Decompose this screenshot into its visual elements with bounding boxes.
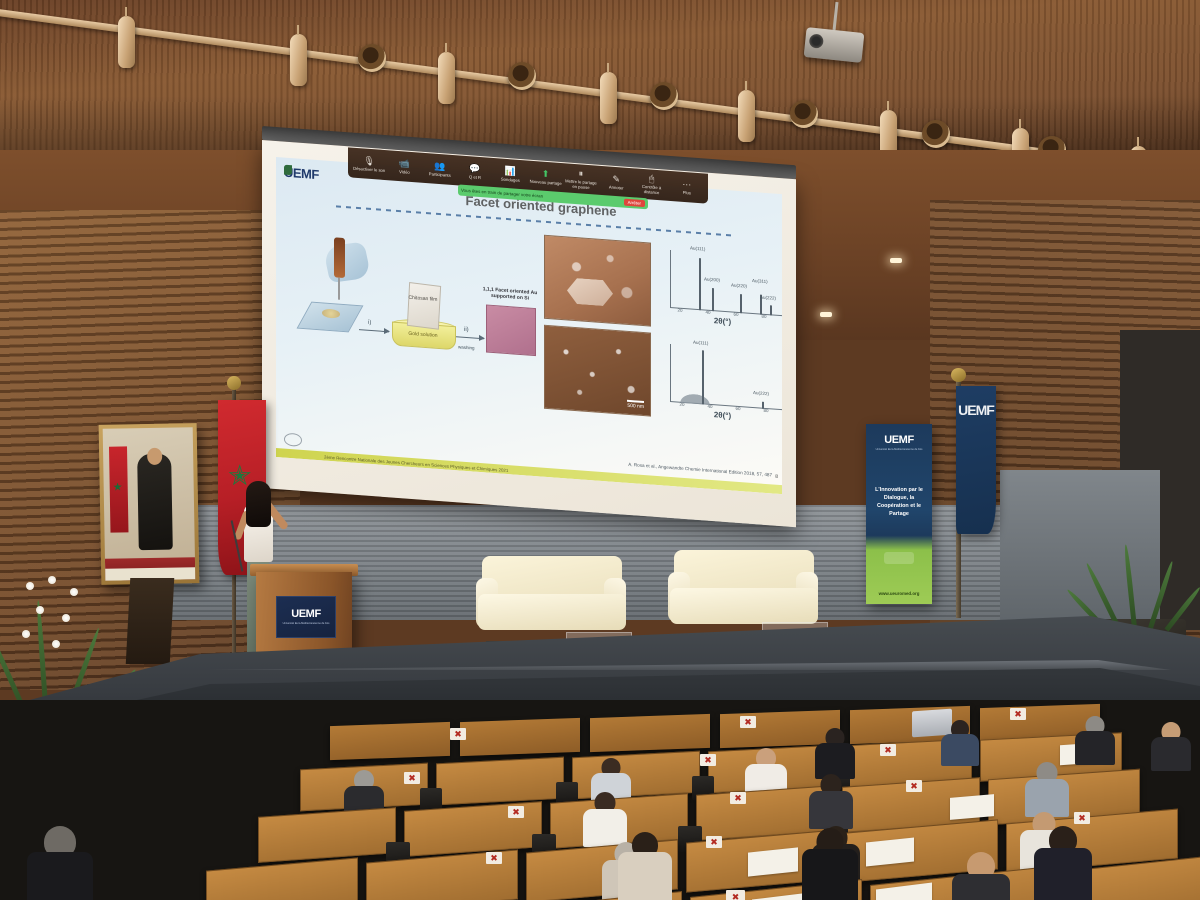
podium-uemf-sign: UEMF Université Euro-Méditerranéenne de …: [276, 596, 336, 638]
slide-number: 8: [775, 474, 778, 480]
peak-label: Au(111): [693, 340, 708, 346]
royal-portrait-image: [103, 427, 196, 581]
xrd-chart-bottom: Au(111) Au(222) 20 40 60 80 2θ(°): [660, 335, 782, 424]
x-tick: 40: [705, 310, 710, 315]
recessed-spotlight: [508, 62, 536, 90]
product-label: 1,1,1 Facet oriented Au supported on Si: [480, 286, 540, 303]
zoom-more-button[interactable]: ··· Plus: [670, 178, 704, 197]
x-tick: 20: [677, 308, 682, 313]
chitosan-film: [407, 282, 441, 330]
paper-sheet: [950, 794, 994, 820]
seat-blocked-marker: ✖: [906, 780, 922, 792]
lecture-hall-photo: UEMF Facet oriented graphene i) Gold sol…: [0, 0, 1200, 900]
step-label-ii: ii): [464, 327, 469, 333]
x-tick: 80: [763, 408, 768, 413]
seat-blocked-marker: ✖: [700, 754, 716, 766]
seat-blocked-marker: ✖: [730, 792, 746, 804]
seat-blocked-marker: ✖: [486, 852, 502, 864]
zoom-qa-button[interactable]: 💬 Q et R: [458, 162, 492, 181]
audience-seating: ✖ ✖ ✖ ✖ ✖ ✖: [0, 700, 1200, 900]
peak-label: Au(222): [760, 295, 776, 301]
recessed-spotlight: [790, 100, 818, 128]
process-arrow-i: [359, 329, 389, 332]
x-tick: 60: [735, 406, 740, 411]
seat-blocked-marker: ✖: [508, 806, 524, 818]
peak-label: Au(311): [752, 278, 768, 284]
recessed-spotlight: [358, 44, 386, 72]
zoom-mute-button[interactable]: 🎙 Désactiver le son: [352, 154, 386, 173]
seat-blocked-marker: ✖: [880, 744, 896, 756]
peak-label: Au(200): [704, 276, 720, 282]
audience-member: [1148, 722, 1194, 768]
rollup-banner: UEMF Université Euro-Méditerranéenne de …: [866, 424, 932, 604]
zoom-new-share-button[interactable]: ⬆ Nouveau partage: [528, 167, 562, 186]
rollup-subtitle: Université Euro-Méditerranéenne de Fès: [870, 448, 928, 452]
portrait-easel: [126, 578, 175, 664]
step-label-i: i): [368, 320, 371, 326]
zoom-video-button[interactable]: 📹 Vidéo: [387, 157, 421, 176]
x-tick: 40: [707, 404, 712, 409]
rollup-brand: UEMF: [866, 434, 932, 446]
sem-image-bottom: 500 nm: [544, 325, 651, 417]
x-tick: 80: [761, 314, 766, 319]
leaf-icon: [284, 165, 292, 176]
audience-member: [806, 774, 856, 826]
peak-label: Au(222): [753, 390, 769, 396]
rollup-seal: [884, 552, 914, 564]
slide-logo: UEMF: [284, 165, 319, 183]
sem-image-top: [544, 235, 651, 327]
pendant-light: [118, 16, 135, 68]
projected-slide: UEMF Facet oriented graphene i) Gold sol…: [276, 157, 782, 494]
downlight: [890, 258, 902, 263]
x-tick: 20: [679, 402, 684, 407]
vertical-banner: UEMF: [956, 386, 996, 534]
portrait-figure: [137, 454, 173, 551]
zoom-stop-share-button[interactable]: Arrêter: [624, 199, 645, 208]
downlight: [820, 312, 832, 317]
portrait-flag: [109, 446, 128, 532]
audience-member: [20, 826, 100, 900]
zoom-polls-button[interactable]: 📊 Sondages: [493, 165, 527, 184]
screen-surface: UEMF Facet oriented graphene i) Gold sol…: [262, 140, 796, 527]
audience-member: [1022, 762, 1072, 814]
peak-label: Au(220): [731, 282, 747, 288]
step-note-ii: washing: [458, 344, 475, 350]
royal-portrait-frame: [99, 423, 200, 585]
ceiling-projector: [804, 27, 865, 63]
audience-member: [798, 828, 862, 900]
zoom-remote-control-button[interactable]: 🖱 Contrôle à distance: [634, 173, 668, 197]
vertical-banner-brand: UEMF: [956, 402, 996, 418]
xrd-chart-top: Au(111) Au(200) Au(220) Au(311) Au(222) …: [660, 241, 782, 330]
pipette-icon: [334, 237, 345, 278]
pendant-light: [738, 90, 755, 142]
gloved-hand: [323, 242, 372, 283]
scale-bar: 500 nm: [627, 400, 644, 410]
pendant-light: [290, 34, 307, 86]
pendant-light: [600, 72, 617, 124]
zoom-pause-share-button[interactable]: ⏸ Mettre le partage en pause: [564, 168, 598, 192]
recessed-spotlight: [922, 120, 950, 148]
seat-blocked-marker: ✖: [404, 772, 420, 784]
slide-footer-logo: [284, 433, 302, 447]
seat-blocked-marker: ✖: [1074, 812, 1090, 824]
seat-blocked-marker: ✖: [450, 728, 466, 740]
audience-member: [812, 728, 858, 776]
seat-blocked-marker: ✖: [706, 836, 722, 848]
flower-arrangement: [18, 576, 96, 666]
seat-blocked-marker: ✖: [726, 890, 745, 900]
paper-sheet: [866, 837, 914, 866]
recessed-spotlight: [650, 82, 678, 110]
synthesis-schematic: i) Gold solution Chitosan film ii) washi…: [304, 229, 534, 381]
seat-blocked-marker: ✖: [740, 716, 756, 728]
seat-blocked-marker: ✖: [1010, 708, 1026, 720]
audience-member: [948, 852, 1014, 900]
presenter-hair: [246, 481, 271, 527]
pendant-light: [438, 52, 455, 104]
audience-member: [1030, 826, 1096, 900]
process-arrow-ii: [456, 336, 484, 339]
zoom-annotate-button[interactable]: ✎ Annoter: [599, 172, 633, 191]
podium-subtitle: Université Euro-Méditerranéenne de Fès: [283, 622, 330, 626]
projection-screen: UEMF Facet oriented graphene i) Gold sol…: [262, 140, 796, 539]
rollup-slogan: L'Innovation par le Dialogue, la Coopéra…: [871, 486, 927, 518]
peak-label: Au(111): [690, 245, 705, 251]
audience-member: [614, 832, 676, 900]
zoom-participants-button[interactable]: 👥 Participants: [423, 159, 457, 178]
x-tick: 60: [733, 312, 738, 317]
audience-member: [1072, 716, 1118, 762]
product-sample: [486, 304, 536, 356]
audience-member: [938, 720, 982, 764]
podium-brand: UEMF: [291, 608, 321, 620]
rollup-url: www.ueuromed.org: [866, 591, 932, 596]
